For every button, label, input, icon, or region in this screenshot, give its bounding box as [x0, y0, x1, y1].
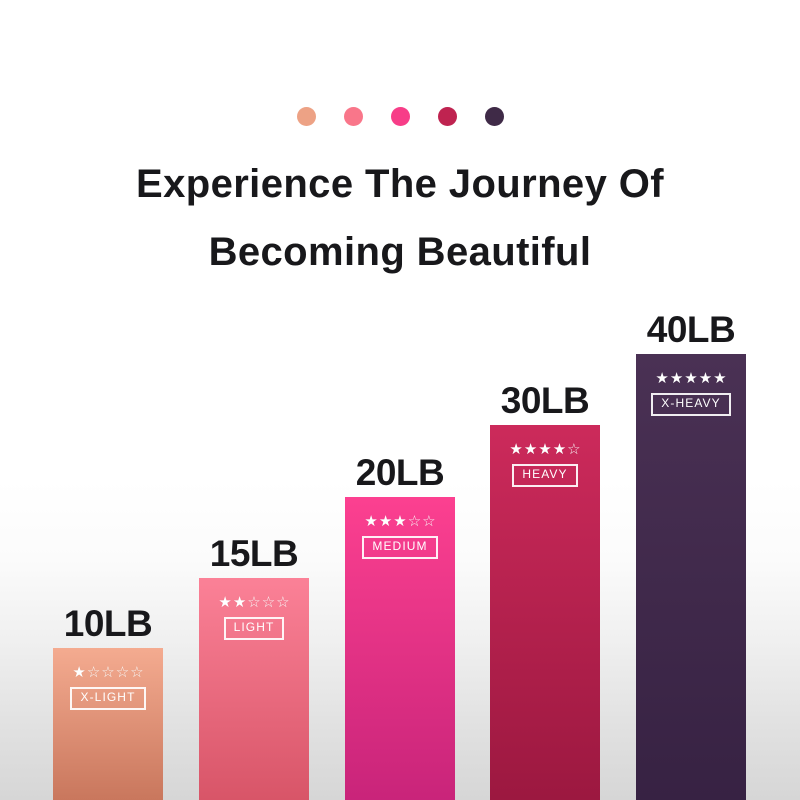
star-filled-icon: ★	[364, 514, 377, 529]
star-empty-icon: ☆	[116, 665, 129, 680]
star-empty-icon: ☆	[247, 595, 260, 610]
star-empty-icon: ☆	[262, 595, 275, 610]
star-rating: ★★★★☆	[509, 442, 580, 457]
resistance-level-chip: X-LIGHT	[70, 687, 145, 710]
star-filled-icon: ★	[233, 595, 246, 610]
star-filled-icon: ★	[670, 371, 683, 386]
star-rating: ★☆☆☆☆	[72, 665, 143, 680]
bar-column: ★★★★★X-HEAVY	[636, 354, 746, 800]
bar-group-light[interactable]: 15LB★★☆☆☆LIGHT	[199, 578, 309, 800]
page-title-line-2: Becoming Beautiful	[0, 218, 800, 286]
star-filled-icon: ★	[553, 442, 566, 457]
star-filled-icon: ★	[699, 371, 712, 386]
star-filled-icon: ★	[393, 514, 406, 529]
bar-group-medium[interactable]: 20LB★★★☆☆MEDIUM	[345, 497, 455, 800]
star-empty-icon: ☆	[276, 595, 289, 610]
resistance-level-chip: MEDIUM	[362, 536, 437, 559]
star-filled-icon: ★	[538, 442, 551, 457]
bar-weight-label: 10LB	[64, 605, 152, 642]
star-filled-icon: ★	[379, 514, 392, 529]
resistance-level-chip: HEAVY	[512, 464, 577, 487]
resistance-level-chip: X-HEAVY	[651, 393, 731, 416]
star-empty-icon: ☆	[130, 665, 143, 680]
bar-group-x-light[interactable]: 10LB★☆☆☆☆X-LIGHT	[53, 648, 163, 800]
star-filled-icon: ★	[655, 371, 668, 386]
star-rating: ★★★★★	[655, 371, 726, 386]
bar-group-x-heavy[interactable]: 40LB★★★★★X-HEAVY	[636, 354, 746, 800]
page-title: Experience The Journey Of Becoming Beaut…	[0, 150, 800, 286]
star-empty-icon: ☆	[87, 665, 100, 680]
star-empty-icon: ☆	[101, 665, 114, 680]
resistance-level-chip: LIGHT	[224, 617, 285, 640]
star-filled-icon: ★	[509, 442, 522, 457]
bar-group-heavy[interactable]: 30LB★★★★☆HEAVY	[490, 425, 600, 800]
bar-weight-label: 20LB	[356, 454, 444, 491]
star-rating: ★★★☆☆	[364, 514, 435, 529]
bar-column: ★★☆☆☆LIGHT	[199, 578, 309, 800]
color-swatch-row	[0, 107, 800, 126]
star-empty-icon: ☆	[567, 442, 580, 457]
star-empty-icon: ☆	[422, 514, 435, 529]
dot-x-light	[297, 107, 316, 126]
bar-column: ★★★☆☆MEDIUM	[345, 497, 455, 800]
bar-weight-label: 15LB	[210, 535, 298, 572]
star-filled-icon: ★	[684, 371, 697, 386]
star-filled-icon: ★	[72, 665, 85, 680]
dot-heavy	[438, 107, 457, 126]
star-empty-icon: ☆	[408, 514, 421, 529]
dot-x-heavy	[485, 107, 504, 126]
bar-weight-label: 40LB	[647, 311, 735, 348]
star-filled-icon: ★	[713, 371, 726, 386]
bar-column: ★☆☆☆☆X-LIGHT	[53, 648, 163, 800]
star-filled-icon: ★	[218, 595, 231, 610]
star-rating: ★★☆☆☆	[218, 595, 289, 610]
bar-column: ★★★★☆HEAVY	[490, 425, 600, 800]
page-title-line-1: Experience The Journey Of	[0, 150, 800, 218]
dot-medium	[391, 107, 410, 126]
star-filled-icon: ★	[524, 442, 537, 457]
bar-weight-label: 30LB	[501, 382, 589, 419]
dot-light	[344, 107, 363, 126]
